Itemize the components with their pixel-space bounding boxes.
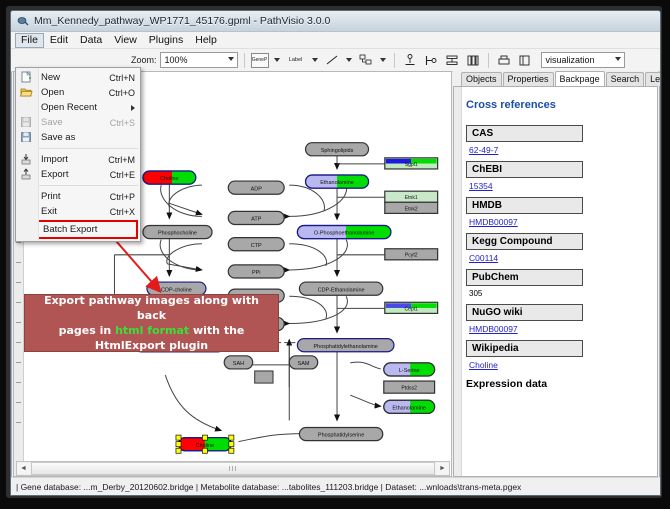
status-text: | Gene database: ...m_Derby_20120602.bri… bbox=[11, 482, 521, 492]
align-top-icon[interactable] bbox=[401, 51, 419, 69]
selection-handle bbox=[202, 448, 207, 453]
zoom-value: 100% bbox=[165, 55, 188, 65]
pathway-node-ctp[interactable]: CTP bbox=[228, 238, 284, 251]
annotation-line2b: with the bbox=[189, 324, 244, 337]
menu-item-new-accel: Ctrl+N bbox=[109, 73, 135, 83]
line-tool-icon[interactable] bbox=[323, 51, 341, 69]
common-width-icon[interactable] bbox=[464, 51, 482, 69]
menu-bar: File Edit Data View Plugins Help bbox=[11, 32, 660, 49]
pathway-node-sphingolipids[interactable]: Sphingolipids bbox=[306, 143, 369, 156]
menu-item-export-accel: Ctrl+E bbox=[110, 170, 135, 180]
pathway-node-ethanolamine-right[interactable]: Ethanolamine bbox=[384, 400, 435, 413]
xref-nugo-label: NuGO wiki bbox=[466, 304, 583, 321]
menu-item-exit-accel: Ctrl+X bbox=[110, 207, 135, 217]
stack-vertical-icon[interactable] bbox=[443, 51, 461, 69]
gene-label: Cept1 bbox=[404, 306, 418, 312]
cross-references-title: Cross references bbox=[466, 99, 649, 111]
pathway-node-phosphatidylserine[interactable]: Phosphatidylserine bbox=[299, 428, 382, 441]
zoom-label: Zoom: bbox=[131, 55, 157, 65]
gene-node-etnk1[interactable]: Etnk1 bbox=[385, 191, 438, 202]
gene-label: Etnk2 bbox=[405, 206, 418, 212]
interaction-tool-icon[interactable] bbox=[357, 51, 375, 69]
desktop-background: Mm_Kennedy_pathway_WP1771_45176.gpml - P… bbox=[0, 0, 670, 509]
pathway-node-cdp-ethanolamine[interactable]: CDP-Ethanolamine bbox=[299, 282, 382, 295]
menu-item-new[interactable]: New Ctrl+N bbox=[16, 70, 140, 85]
print-icon[interactable] bbox=[495, 51, 513, 69]
backpage-scroll-rail[interactable] bbox=[454, 87, 462, 476]
node-label: Choline bbox=[160, 176, 179, 182]
scrollbar-thumb[interactable] bbox=[31, 462, 435, 475]
gene-label: Etnk1 bbox=[405, 195, 418, 201]
menu-item-save-label: Save bbox=[41, 117, 63, 128]
label-dropdown-icon[interactable] bbox=[312, 58, 318, 62]
side-panel-tabs: Objects Properties Backpage Search Legen… bbox=[453, 71, 658, 86]
annotation-highlight: html format bbox=[115, 324, 189, 337]
scroll-left-icon[interactable]: ◄ bbox=[17, 463, 30, 474]
menu-item-print[interactable]: Print Ctrl+P bbox=[16, 189, 140, 204]
xref-cas-label: CAS bbox=[466, 125, 583, 142]
chevron-down-icon-2 bbox=[615, 57, 621, 61]
menu-item-open-recent[interactable]: Open Recent bbox=[16, 100, 140, 115]
xref-pubchem-value: 305 bbox=[469, 289, 649, 298]
menu-item-print-accel: Ctrl+P bbox=[110, 192, 135, 202]
selection-handle bbox=[202, 435, 207, 440]
panel-toggle-icon[interactable] bbox=[516, 51, 534, 69]
annotation-callout: Export pathway images along with back pa… bbox=[24, 294, 279, 352]
pathway-node-choline[interactable]: Choline bbox=[143, 171, 196, 184]
menu-item-open[interactable]: Open Ctrl+O bbox=[16, 85, 140, 100]
menu-data[interactable]: Data bbox=[74, 33, 108, 48]
node-label: Phosphatidylserine bbox=[318, 433, 364, 439]
visualization-value: visualization bbox=[546, 55, 595, 65]
save-as-icon bbox=[20, 131, 34, 144]
folder-open-icon bbox=[20, 86, 34, 99]
menu-item-open-recent-label: Open Recent bbox=[41, 102, 97, 113]
menu-file[interactable]: File bbox=[15, 33, 44, 48]
tab-search[interactable]: Search bbox=[606, 72, 645, 86]
xref-pubchem-label: PubChem bbox=[466, 269, 583, 286]
menu-item-new-label: New bbox=[41, 72, 60, 83]
xref-wikipedia: Wikipedia Choline bbox=[466, 338, 649, 370]
selection-handle bbox=[229, 442, 234, 447]
menu-item-exit-label: Exit bbox=[41, 206, 57, 217]
xref-hmdb-link[interactable]: HMDB00097 bbox=[469, 217, 649, 227]
pathway-node-adp[interactable]: ADP bbox=[228, 181, 284, 194]
pathway-node-o-phosphoethanolamine[interactable]: O-Phosphoethanolamine bbox=[297, 226, 390, 239]
export-icon bbox=[20, 168, 34, 181]
menu-item-import-label: Import bbox=[41, 154, 68, 165]
menu-help[interactable]: Help bbox=[189, 33, 223, 48]
annotation-line2a: pages in bbox=[59, 324, 115, 337]
pathway-node-phosphocholine[interactable]: Phosphocholine bbox=[143, 226, 212, 239]
menu-item-export[interactable]: Export Ctrl+E bbox=[16, 167, 140, 182]
menu-item-save-as[interactable]: Save as bbox=[16, 130, 140, 145]
node-label: PPi bbox=[252, 270, 261, 276]
gene-node-cept1[interactable]: Cept1 bbox=[385, 302, 438, 313]
menu-item-exit[interactable]: Exit Ctrl+X bbox=[16, 204, 140, 219]
tab-objects[interactable]: Objects bbox=[461, 72, 502, 86]
menu-item-export-label: Export bbox=[41, 169, 68, 180]
pathway-node-sah[interactable]: SAH bbox=[224, 356, 252, 369]
xref-wikipedia-label: Wikipedia bbox=[466, 340, 583, 357]
line-dropdown-icon[interactable] bbox=[346, 58, 352, 62]
visualization-combo[interactable]: visualization bbox=[541, 52, 625, 68]
xref-chebi-label: ChEBI bbox=[466, 161, 583, 178]
tab-legend[interactable]: Legend bbox=[645, 72, 661, 86]
node-label: Ethanolamine bbox=[320, 180, 354, 186]
node-label: Ethanolamine bbox=[392, 405, 426, 411]
pathvisio-app-icon bbox=[17, 15, 29, 27]
file-menu-dropdown[interactable]: New Ctrl+N Open Ctrl+O Open Recent Save bbox=[15, 67, 141, 242]
xref-kegg: Kegg Compound C00114 bbox=[466, 231, 649, 263]
menu-item-open-label: Open bbox=[41, 87, 64, 98]
pathway-node-ppi[interactable]: PPi bbox=[228, 265, 284, 278]
title-bar: Mm_Kennedy_pathway_WP1771_45176.gpml - P… bbox=[11, 11, 660, 32]
pathway-node-phosphatidylethanolamine[interactable]: Phosphatidylethanolamine bbox=[297, 339, 394, 352]
toolbar-separator-2 bbox=[394, 53, 395, 68]
selection-handle bbox=[229, 448, 234, 453]
scroll-right-icon[interactable]: ► bbox=[436, 463, 449, 474]
canvas-horizontal-scrollbar[interactable]: ◄ ► bbox=[16, 461, 450, 476]
pathway-node-choline-selected[interactable]: Choline bbox=[176, 435, 234, 453]
gene-label: Ptdss2 bbox=[401, 386, 417, 392]
new-document-icon bbox=[20, 71, 34, 84]
gene-node-ptdss2[interactable]: Ptdss2 bbox=[384, 381, 435, 393]
menu-item-save: Save Ctrl+S bbox=[16, 115, 140, 130]
datanode-tool-icon[interactable]: GeneP bbox=[251, 53, 269, 68]
xref-cas: CAS 62-49-7 bbox=[466, 123, 649, 155]
toolbar-separator bbox=[244, 53, 245, 68]
menu-item-import[interactable]: Import Ctrl+M bbox=[16, 152, 140, 167]
node-label: Phosphocholine bbox=[158, 231, 197, 237]
node-label: O-Phosphoethanolamine bbox=[314, 231, 375, 237]
menu-item-batch-export-label: Batch Export bbox=[43, 224, 97, 235]
xref-hmdb-label: HMDB bbox=[466, 197, 583, 214]
node-label: SAH bbox=[233, 361, 244, 367]
label-tool-icon[interactable]: Label bbox=[285, 51, 307, 69]
status-bar: | Gene database: ...m_Derby_20120602.bri… bbox=[11, 477, 660, 495]
gene-node-etnk2[interactable]: Etnk2 bbox=[385, 202, 438, 213]
node-label: L-Serine bbox=[399, 368, 420, 374]
pathway-node-atp[interactable]: ATP bbox=[228, 211, 284, 224]
menu-item-import-accel: Ctrl+M bbox=[108, 155, 135, 165]
interaction-dropdown-icon[interactable] bbox=[380, 58, 386, 62]
menu-plugins[interactable]: Plugins bbox=[143, 33, 189, 48]
selection-handle bbox=[229, 435, 234, 440]
node-label: CTP bbox=[251, 243, 262, 249]
xref-wikipedia-link[interactable]: Choline bbox=[469, 360, 649, 370]
save-disk-icon bbox=[20, 116, 34, 129]
xref-cas-link[interactable]: 62-49-7 bbox=[469, 145, 649, 155]
selection-handle bbox=[176, 442, 181, 447]
annotation-line1: Export pathway images along with back bbox=[44, 294, 259, 322]
annotation-text: Export pathway images along with back pa… bbox=[25, 293, 278, 353]
selection-handle bbox=[176, 448, 181, 453]
toolbar-separator-3 bbox=[488, 53, 489, 68]
expression-data-title: Expression data bbox=[466, 378, 649, 390]
datanode-dropdown-icon[interactable] bbox=[274, 58, 280, 62]
menu-edit[interactable]: Edit bbox=[44, 33, 74, 48]
annotation-line3: HtmlExport plugin bbox=[95, 339, 208, 352]
zoom-combo[interactable]: 100% bbox=[160, 52, 238, 68]
tab-properties[interactable]: Properties bbox=[503, 72, 554, 86]
xref-pubchem: PubChem 305 bbox=[466, 267, 649, 298]
backpage-content: Cross references CAS 62-49-7 ChEBI 15354… bbox=[453, 86, 658, 477]
gene-label: Sgpl1 bbox=[405, 162, 418, 168]
gene-node-sgpl1[interactable]: Sgpl1 bbox=[385, 158, 438, 169]
menu-item-save-as-label: Save as bbox=[41, 132, 75, 143]
menu-item-print-label: Print bbox=[41, 191, 61, 202]
node-label: ATP bbox=[251, 217, 262, 223]
xref-nugo-link[interactable]: HMDB00097 bbox=[469, 324, 649, 334]
pathway-node-sam[interactable]: SAM bbox=[289, 356, 317, 369]
menu-item-save-accel: Ctrl+S bbox=[110, 118, 135, 128]
menu-view[interactable]: View bbox=[108, 33, 143, 48]
xref-nugo: NuGO wiki HMDB00097 bbox=[466, 302, 649, 334]
submenu-arrow-icon bbox=[131, 105, 135, 111]
node-label: SAM bbox=[298, 361, 310, 367]
xref-hmdb: HMDB HMDB00097 bbox=[466, 195, 649, 227]
selection-handle bbox=[176, 435, 181, 440]
pathway-node-ethanolamine-top[interactable]: Ethanolamine bbox=[306, 175, 369, 188]
xref-chebi: ChEBI 15354 bbox=[466, 159, 649, 191]
gene-node-pcyt2[interactable]: Pcyt2 bbox=[385, 249, 438, 260]
pathvisio-window: Mm_Kennedy_pathway_WP1771_45176.gpml - P… bbox=[10, 10, 661, 496]
node-label: CDP-Ethanolamine bbox=[318, 287, 365, 293]
pathway-node-l-serine[interactable]: L-Serine bbox=[384, 363, 435, 376]
window-title: Mm_Kennedy_pathway_WP1771_45176.gpml - P… bbox=[34, 15, 330, 27]
import-icon bbox=[20, 153, 34, 166]
xref-kegg-link[interactable]: C00114 bbox=[469, 253, 649, 263]
gene-label: Pcyt2 bbox=[405, 253, 418, 259]
tab-backpage[interactable]: Backpage bbox=[555, 71, 605, 87]
node-label: Sphingolipids bbox=[321, 148, 354, 154]
xref-chebi-link[interactable]: 15354 bbox=[469, 181, 649, 191]
node-label: ADP bbox=[251, 186, 263, 192]
align-left-icon[interactable] bbox=[422, 51, 440, 69]
chevron-down-icon bbox=[228, 57, 234, 61]
xref-kegg-label: Kegg Compound bbox=[466, 233, 583, 250]
menu-item-open-accel: Ctrl+O bbox=[109, 88, 135, 98]
node-label: Phosphatidylethanolamine bbox=[313, 344, 377, 350]
side-panel: Objects Properties Backpage Search Legen… bbox=[453, 71, 658, 477]
